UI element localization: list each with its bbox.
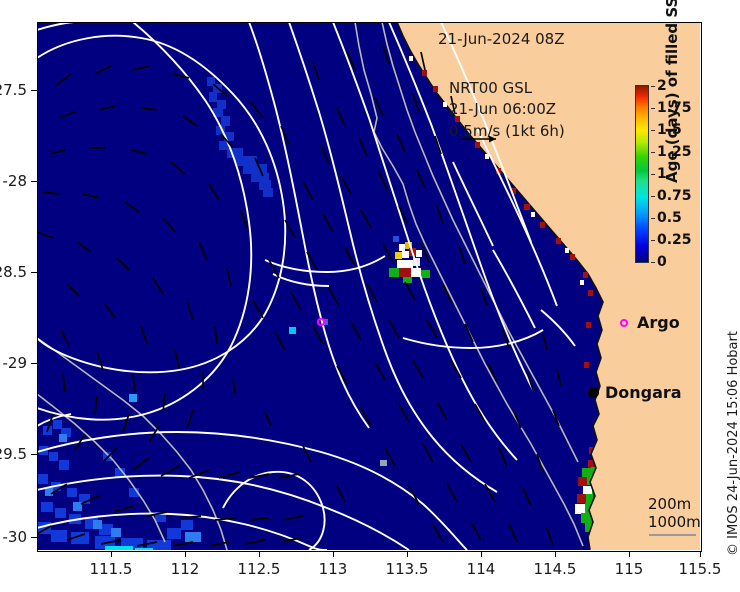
colorbar-tick [651,240,655,241]
depth-shallow-label: 200m [648,495,701,513]
dongara-label: Dongara [605,383,682,402]
colorbar-label: 0 [657,254,667,270]
depth-key-rule [649,534,696,536]
xtick-label: 115 [615,560,644,578]
xtick-label: 113 [319,560,348,578]
current-time-label: 21-Jun 06:00Z [449,99,565,120]
dongara-place-marker: Dongara [588,383,682,402]
colorbar-tick [651,218,655,219]
xtick-label: 114.5 [534,560,577,578]
xtick [629,551,630,557]
colorbar-label: 0.25 [657,232,692,248]
colorbar-title: Age (days) of filled SST (wrt latest) [663,0,681,183]
date-stamp: 21-Jun-2024 08Z [438,30,565,48]
xtick-label: 112.5 [238,560,281,578]
colorbar-tick [651,130,655,131]
credit-text: © IMOS 24-Jun-2024 15:06 Hobart [726,331,740,556]
current-product-label: NRT00 GSL [449,78,565,99]
ytick-label: -28.5 [0,263,27,281]
ytick-label: -27.5 [0,81,27,99]
reference-vector-arrow [460,131,504,150]
argo-marker-icon [620,319,628,327]
ytick-label: -28 [3,172,28,190]
xtick-label: 115.5 [679,560,722,578]
xtick-label: 112 [171,560,200,578]
argo-legend-label: Argo [637,313,680,332]
xtick [481,551,482,557]
colorbar-tick [651,196,655,197]
ytick-label: -29.5 [0,445,27,463]
xtick [555,551,556,557]
xtick [407,551,408,557]
colorbar-tick [651,86,655,87]
ytick [31,181,37,182]
colorbar-tick [651,262,655,263]
ytick [31,454,37,455]
xtick-label: 114 [467,560,496,578]
ytick [31,537,37,538]
ytick-label: -30 [3,528,28,546]
ytick [31,363,37,364]
contours-and-vectors [37,22,700,550]
ytick-label: -29 [3,354,28,372]
colorbar-tick [651,108,655,109]
dongara-marker-icon [588,387,599,398]
colorbar-label: 0.5 [657,210,682,226]
ytick [31,272,37,273]
colorbar-tick [651,152,655,153]
xtick [700,551,701,557]
colorbar-tick [651,174,655,175]
argo-legend-entry: Argo [620,313,680,332]
colorbar-label: 0.75 [657,188,692,204]
depth-contour-key: 200m 1000m [648,495,701,536]
colorbar[interactable] [635,85,649,263]
depth-deep-label: 1000m [648,513,701,531]
map-plot-area[interactable] [37,22,700,550]
xtick [111,551,112,557]
xtick [185,551,186,557]
xtick [333,551,334,557]
xtick-label: 111.5 [90,560,133,578]
colorbar-gradient [635,85,649,263]
xtick-label: 113.5 [386,560,429,578]
xtick [259,551,260,557]
ytick [31,90,37,91]
